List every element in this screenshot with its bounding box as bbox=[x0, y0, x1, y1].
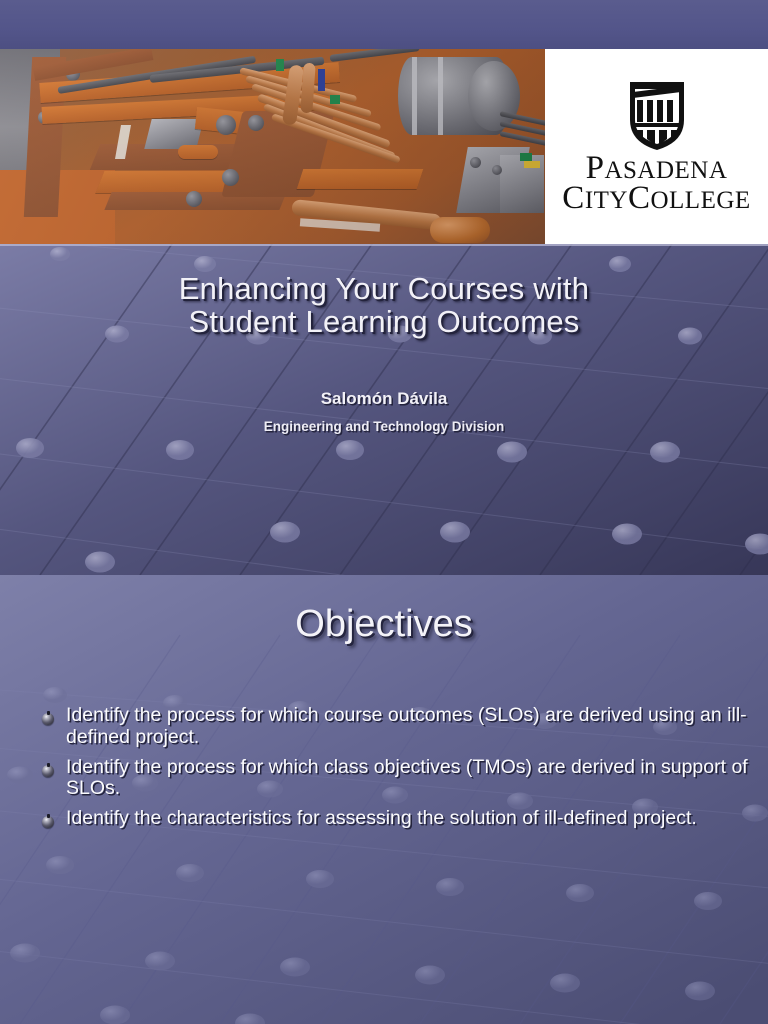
author-division: Engineering and Technology Division bbox=[0, 419, 768, 434]
presentation-title-line2: Student Learning Outcomes bbox=[0, 305, 768, 338]
cad-machinery-image bbox=[0, 49, 545, 244]
top-accent-band bbox=[0, 0, 768, 49]
presentation-title-line1: Enhancing Your Courses with bbox=[0, 272, 768, 305]
bullet-sphere-icon bbox=[42, 711, 55, 725]
list-item-text: Identify the characteristics for assessi… bbox=[66, 808, 697, 830]
list-item-text: Identify the process for which course ou… bbox=[66, 705, 748, 749]
logo-line2: OLLEGE bbox=[650, 187, 750, 214]
objectives-heading: Objectives bbox=[0, 603, 768, 646]
logo-line1: ASADENA bbox=[604, 157, 727, 184]
logo-wordmark: PASADENA CITYCOLLEGE bbox=[562, 154, 750, 212]
shield-columns-icon bbox=[626, 80, 688, 152]
header-banner: PASADENA CITYCOLLEGE bbox=[0, 49, 768, 244]
slides-page: PASADENA CITYCOLLEGE bbox=[0, 0, 768, 1024]
banner-divider bbox=[0, 244, 768, 246]
bullet-sphere-icon bbox=[42, 814, 55, 828]
presentation-title: Enhancing Your Courses with Student Lear… bbox=[0, 272, 768, 339]
list-item: Identify the process for which course ou… bbox=[42, 705, 748, 749]
slide-title: PASADENA CITYCOLLEGE bbox=[0, 0, 768, 575]
bullet-sphere-icon bbox=[42, 763, 55, 777]
list-item: Identify the process for which class obj… bbox=[42, 757, 748, 801]
objectives-bullet-list: Identify the process for which course ou… bbox=[42, 705, 748, 838]
pasadena-city-college-logo: PASADENA CITYCOLLEGE bbox=[545, 49, 768, 244]
list-item-text: Identify the process for which class obj… bbox=[66, 757, 748, 801]
list-item: Identify the characteristics for assessi… bbox=[42, 808, 748, 830]
author-name: Salomón Dávila bbox=[0, 389, 768, 409]
